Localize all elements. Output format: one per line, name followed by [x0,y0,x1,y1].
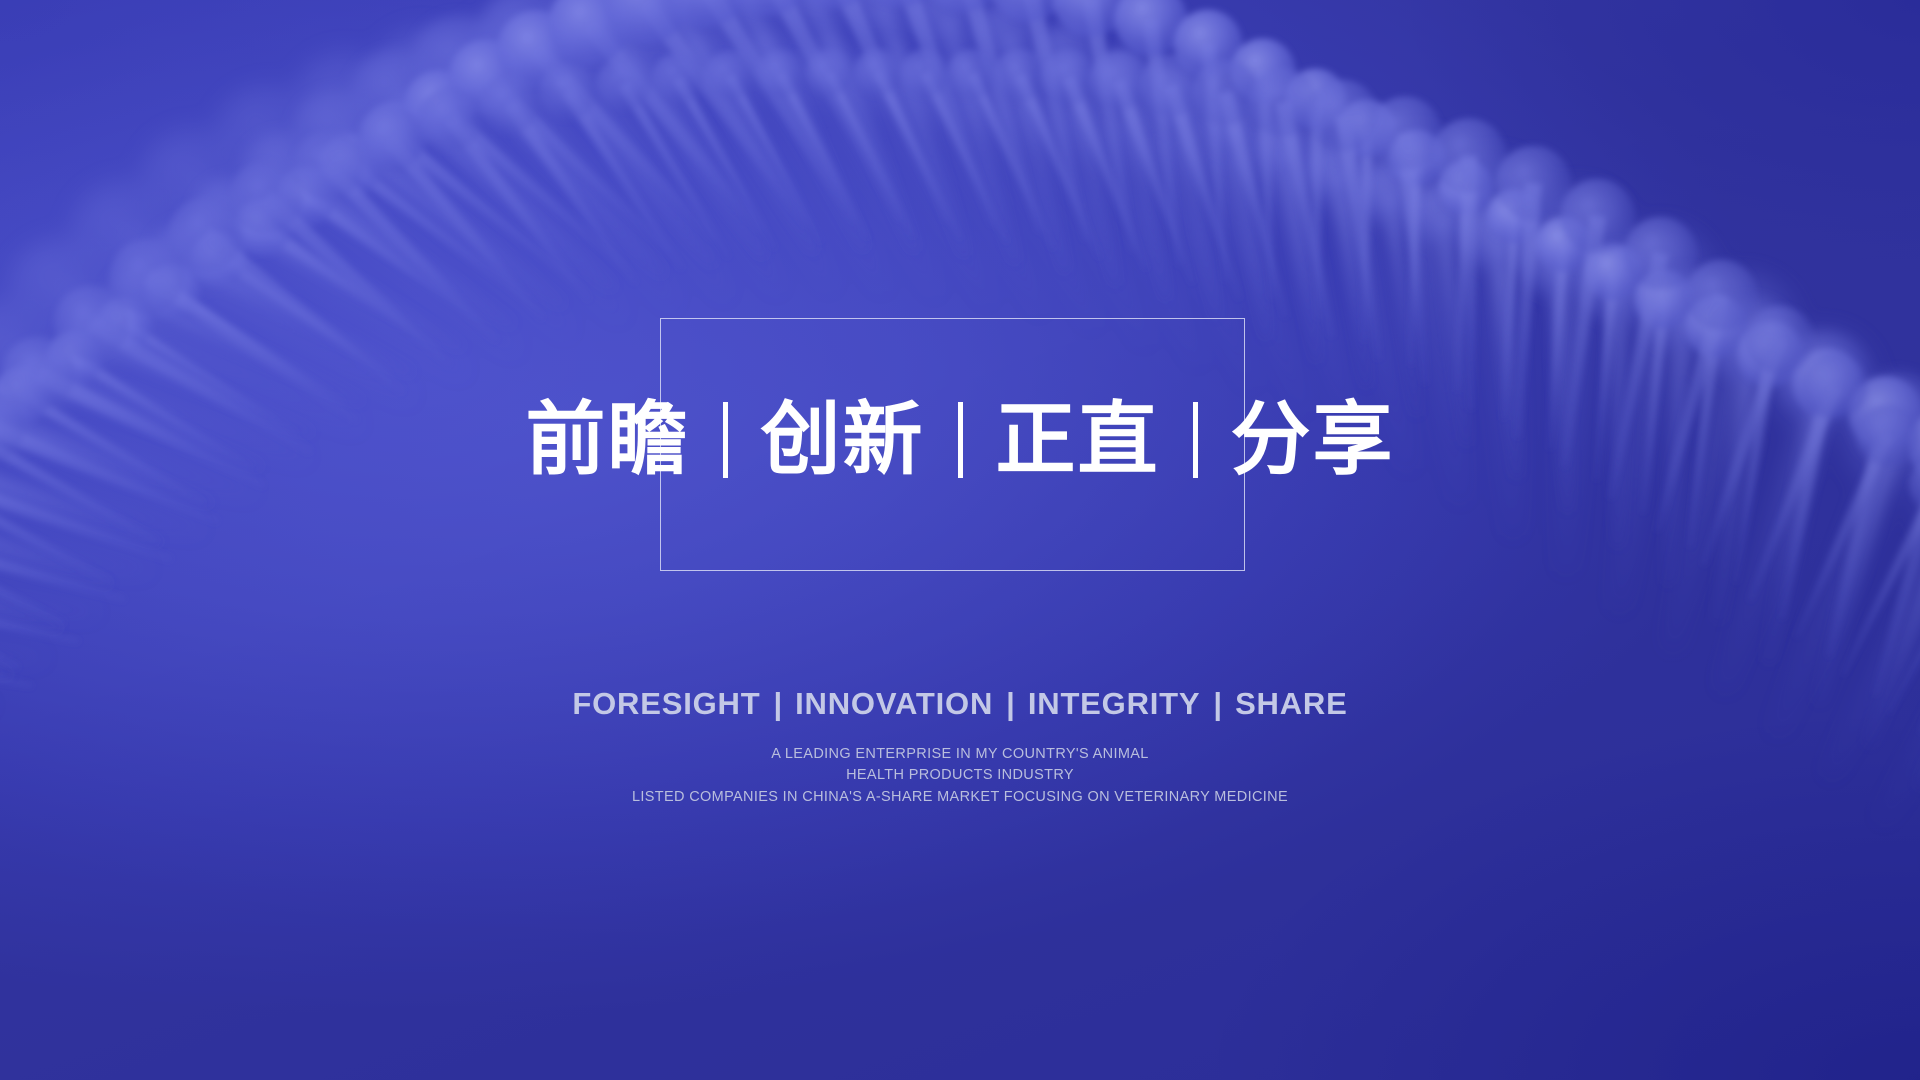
title-word-share: 分享 [1231,400,1395,480]
subtitle-word-integrity: INTEGRITY [1028,686,1201,722]
title-separator-3 [1193,402,1198,478]
tagline-line-1: A LEADING ENTERPRISE IN MY COUNTRY'S ANI… [0,744,1920,765]
company-tagline: A LEADING ENTERPRISE IN MY COUNTRY'S ANI… [0,744,1920,808]
banner-content: 前瞻 创新 正直 分享 FORESIGHT | INNOVATION | INT… [0,0,1920,1080]
tagline-line-2: HEALTH PRODUCTS INDUSTRY [0,765,1920,786]
subtitle-separator-1: | [773,686,782,722]
subtitle-separator-3: | [1213,686,1222,722]
values-title-row: 前瞻 创新 正直 分享 [0,392,1920,488]
tagline-line-3: LISTED COMPANIES IN CHINA'S A-SHARE MARK… [0,787,1920,808]
title-word-foresight: 前瞻 [526,400,690,480]
values-subtitle-row: FORESIGHT | INNOVATION | INTEGRITY | SHA… [0,686,1920,722]
title-word-integrity: 正直 [996,400,1160,480]
banner-stage: 前瞻 创新 正直 分享 FORESIGHT | INNOVATION | INT… [0,0,1920,1080]
subtitle-word-foresight: FORESIGHT [572,686,760,722]
title-word-innovation: 创新 [761,400,925,480]
title-separator-2 [958,402,963,478]
subtitle-word-share: SHARE [1235,686,1348,722]
subtitle-word-innovation: INNOVATION [795,686,993,722]
title-separator-1 [723,402,728,478]
subtitle-separator-2: | [1006,686,1015,722]
